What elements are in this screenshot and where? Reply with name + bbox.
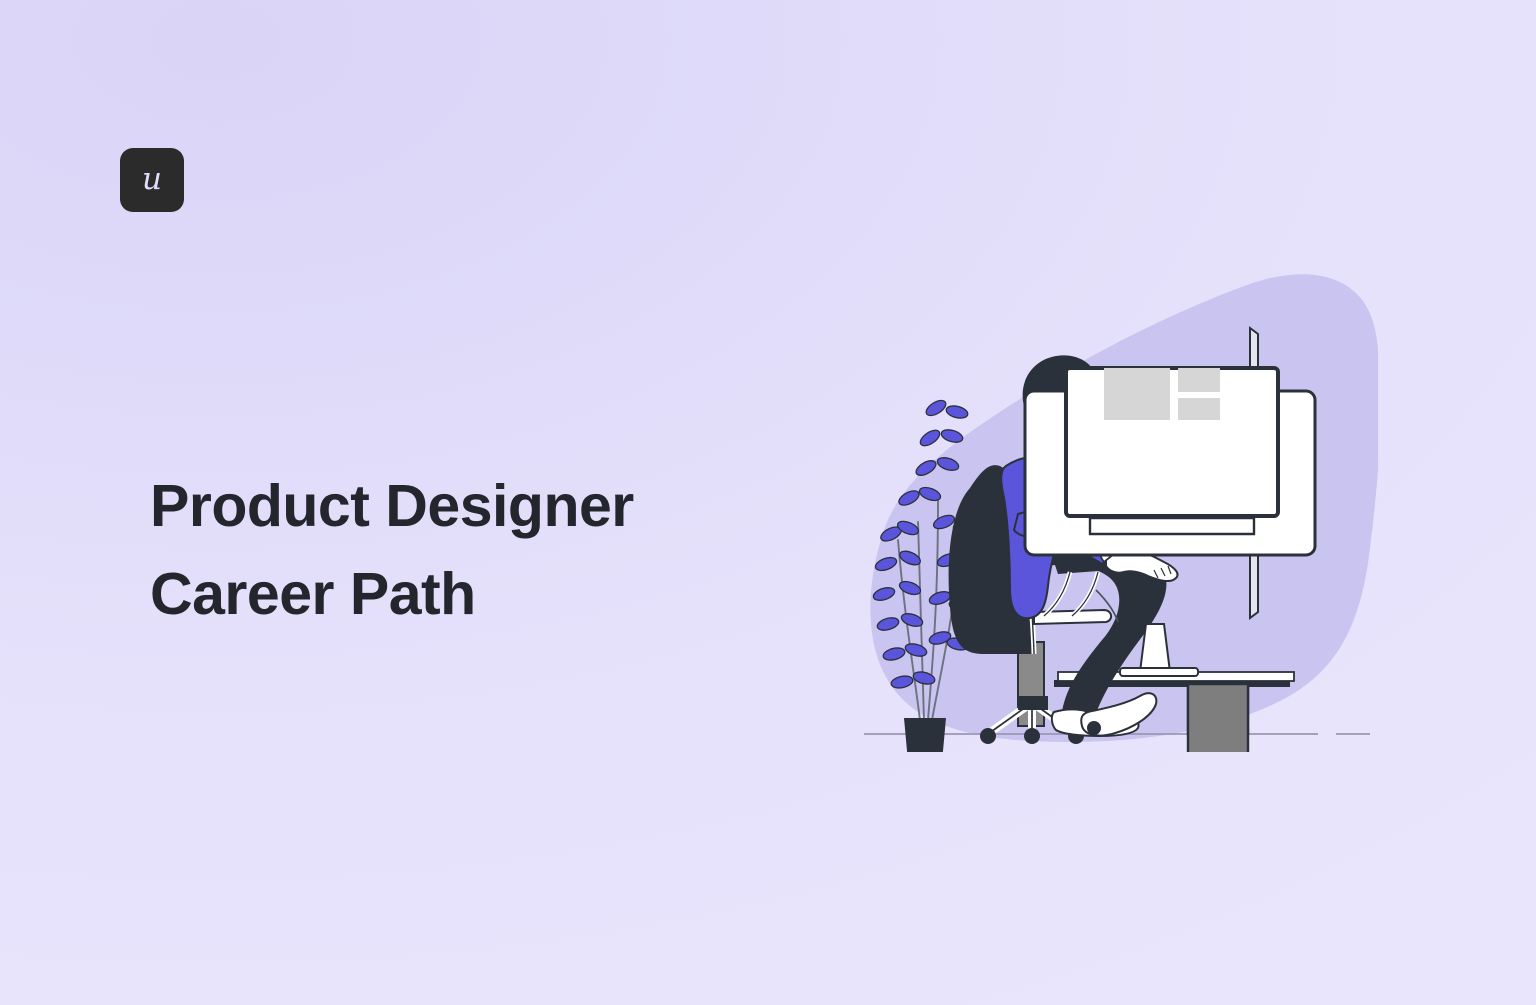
illustration-svg [858, 272, 1378, 752]
userpilot-logo[interactable]: u [120, 148, 184, 212]
page-title: Product Designer Career Path [150, 462, 770, 638]
plant-pot [904, 718, 946, 752]
hero-page: u Product Designer Career Path [0, 0, 1536, 1005]
designer-at-desk-illustration [858, 272, 1378, 752]
logo-u-icon: u [142, 164, 162, 195]
